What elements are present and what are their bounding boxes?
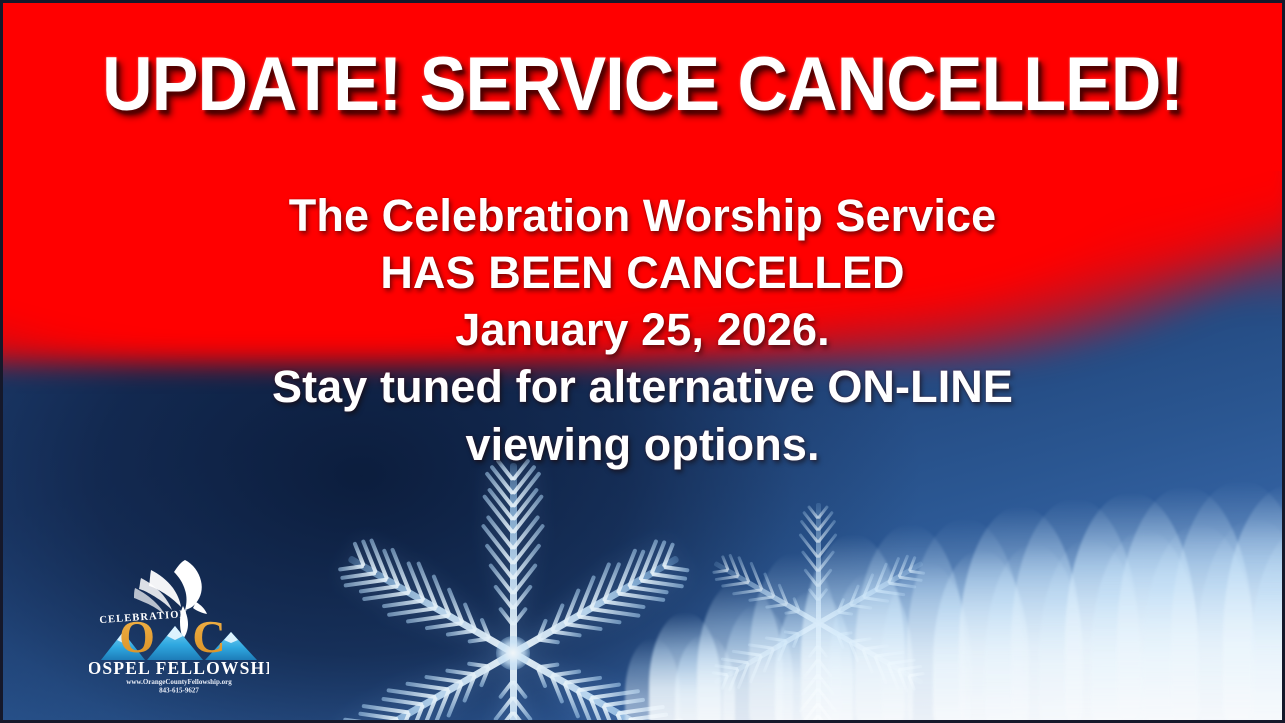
body-copy: The Celebration Worship Service HAS BEEN… [3, 187, 1282, 473]
logo-initial-left: O [119, 611, 155, 662]
headline: UPDATE! SERVICE CANCELLED! [54, 47, 1231, 123]
logo-website: www.OrangeCountyFellowship.org [126, 678, 232, 686]
body-line-4: Stay tuned for alternative ON-LINE [3, 358, 1282, 415]
logo-phone: 843-615-9627 [159, 687, 199, 694]
body-line-1: The Celebration Worship Service [3, 187, 1282, 244]
body-line-2: HAS BEEN CANCELLED [3, 244, 1282, 301]
church-logo: CELEBRATION O C GOSPEL FELLOWSHIP www.Or… [89, 548, 269, 693]
logo-initial-right: C [192, 611, 225, 662]
announcement-slide: UPDATE! SERVICE CANCELLED! The Celebrati… [0, 0, 1285, 723]
body-line-5: viewing options. [3, 416, 1282, 473]
slide-content: UPDATE! SERVICE CANCELLED! The Celebrati… [3, 3, 1282, 720]
logo-name: GOSPEL FELLOWSHIP [89, 658, 269, 678]
body-line-3: January 25, 2026. [3, 301, 1282, 358]
